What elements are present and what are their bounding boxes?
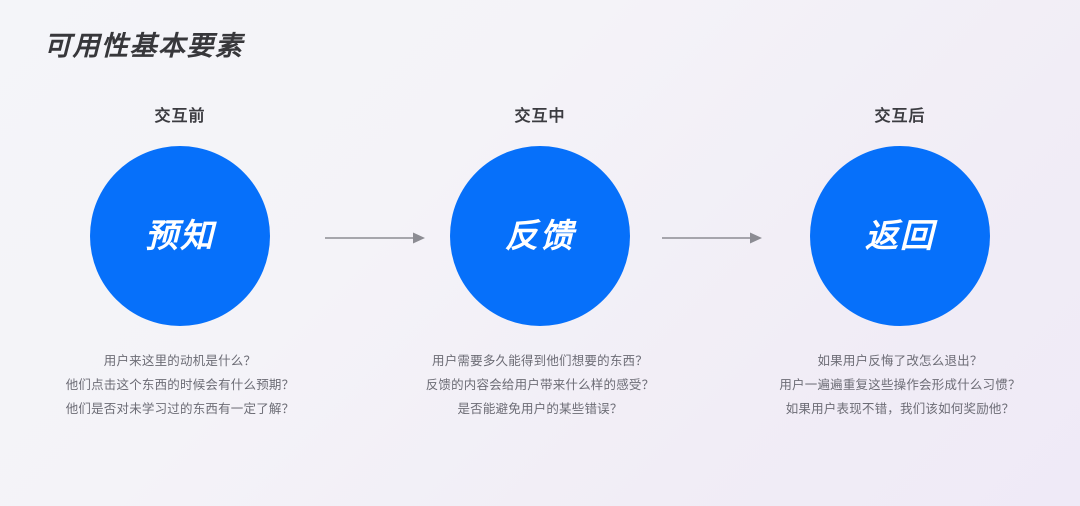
stage-row: 交互前 预知 用户来这里的动机是什么？ 他们点击这个东西的时候会有什么预期？ 他… (0, 96, 1080, 436)
stage-circle-during: 反馈 (450, 146, 630, 326)
stage-label-during: 交互中 (514, 108, 565, 124)
caption-line: 他们是否对未学习过的东西有一定了解？ (66, 401, 295, 416)
stage-circle-label-before: 预知 (145, 219, 215, 252)
caption-list-after: 如果用户反悔了改怎么退出？ 用户一遍遍重复这些操作会形成什么习惯？ 如果用户表现… (779, 353, 1020, 416)
stage-circle-label-after: 返回 (865, 219, 935, 252)
stage-circle-after: 返回 (810, 146, 990, 326)
caption-line: 用户一遍遍重复这些操作会形成什么习惯？ (779, 377, 1020, 392)
caption-line: 用户来这里的动机是什么？ (104, 353, 256, 368)
arrow-right-icon (662, 231, 762, 245)
caption-line: 用户需要多久能得到他们想要的东西？ (432, 353, 648, 368)
caption-line: 如果用户反悔了改怎么退出？ (817, 353, 982, 368)
stage-label-before: 交互前 (154, 108, 205, 124)
caption-line: 如果用户表现不错，我们该如何奖励他？ (786, 401, 1015, 416)
stage-before-interaction: 交互前 预知 用户来这里的动机是什么？ 他们点击这个东西的时候会有什么预期？ 他… (0, 96, 360, 416)
stage-circle-label-during: 反馈 (505, 219, 575, 252)
caption-list-during: 用户需要多久能得到他们想要的东西？ 反馈的内容会给用户带来什么样的感受？ 是否能… (426, 353, 655, 416)
slide-canvas: 可用性基本要素 交互前 预知 用户来这里的动机是什么？ 他们点击这个东西的时候会… (0, 0, 1080, 506)
page-title: 可用性基本要素 (44, 24, 244, 63)
circle-wrap-before: 预知 (90, 146, 270, 326)
circle-wrap-during: 反馈 (450, 146, 630, 326)
caption-line: 是否能避免用户的某些错误？ (457, 401, 622, 416)
arrow-right-icon (325, 231, 425, 245)
stage-label-after: 交互后 (874, 108, 925, 124)
stage-circle-before: 预知 (90, 146, 270, 326)
stage-after-interaction: 交互后 返回 如果用户反悔了改怎么退出？ 用户一遍遍重复这些操作会形成什么习惯？… (720, 96, 1080, 416)
circle-wrap-after: 返回 (810, 146, 990, 326)
caption-line: 他们点击这个东西的时候会有什么预期？ (66, 377, 295, 392)
caption-list-before: 用户来这里的动机是什么？ 他们点击这个东西的时候会有什么预期？ 他们是否对未学习… (66, 353, 295, 416)
stage-during-interaction: 交互中 反馈 用户需要多久能得到他们想要的东西？ 反馈的内容会给用户带来什么样的… (360, 96, 720, 416)
caption-line: 反馈的内容会给用户带来什么样的感受？ (426, 377, 655, 392)
